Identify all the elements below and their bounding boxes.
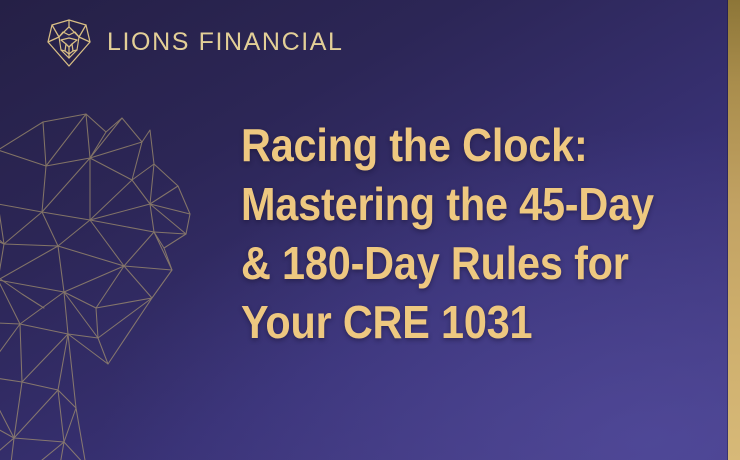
low-poly-lion-wireframe [0, 108, 226, 460]
blog-header-banner: LIONS FINANCIAL Racing the Clock: Master… [0, 0, 740, 460]
page-title-line-2: Mastering the 45-Day [241, 175, 646, 234]
lion-head-shield-logo-icon [44, 16, 94, 68]
page-title-line-1: Racing the Clock: [241, 116, 646, 175]
page-title-line-4: Your CRE 1031 [241, 293, 646, 352]
site-logo[interactable]: LIONS FINANCIAL [44, 16, 344, 68]
page-title: Racing the Clock: Mastering the 45-Day &… [241, 116, 691, 352]
logo-wordmark: LIONS FINANCIAL [107, 30, 344, 55]
gold-accent-bar [728, 0, 740, 460]
page-title-line-3: & 180-Day Rules for [241, 234, 646, 293]
